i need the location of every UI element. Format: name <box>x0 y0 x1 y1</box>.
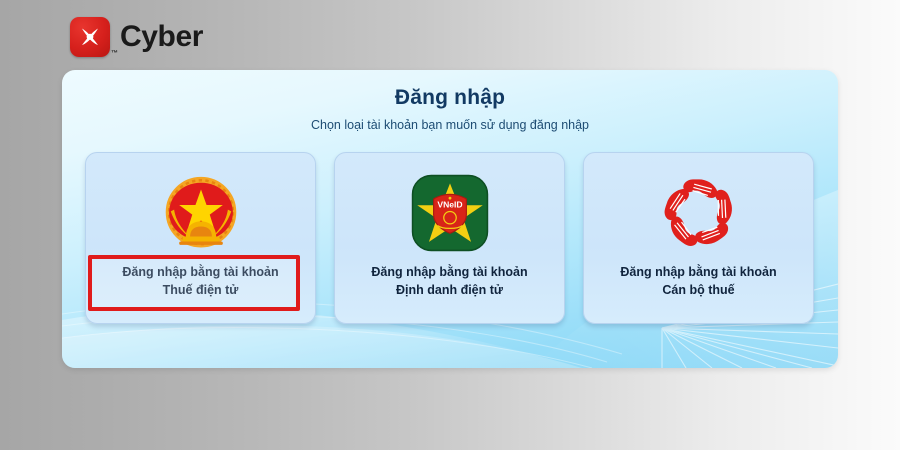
page-subtitle: Chọn loại tài khoản bạn muốn sử dụng đăn… <box>62 118 838 132</box>
cyber-x-logo-icon <box>70 17 110 57</box>
login-option-etax[interactable]: Đăng nhập bằng tài khoản Thuế điện tử <box>85 152 316 324</box>
login-option-label-line2: Định danh điện tử <box>371 281 527 299</box>
login-option-label: Đăng nhập bằng tài khoản Cán bộ thuế <box>620 263 776 299</box>
page-title: Đăng nhập <box>62 86 838 110</box>
login-option-label-line1: Đăng nhập bằng tài khoản <box>620 265 776 279</box>
brand-name-text: Cyber <box>120 20 203 53</box>
login-option-label: Đăng nhập bằng tài khoản Định danh điện … <box>371 263 527 299</box>
brand-logo: Cyber ™ <box>70 14 203 60</box>
login-option-label-line1: Đăng nhập bằng tài khoản <box>371 265 527 279</box>
highlight-annotation-box <box>88 255 300 311</box>
login-option-vneid[interactable]: VNeID Đăng nhập bằng tài khoản Định danh… <box>334 152 565 324</box>
login-option-tax-officer[interactable]: Đăng nhập bằng tài khoản Cán bộ thuế <box>583 152 814 324</box>
svg-text:VNeID: VNeID <box>437 200 462 210</box>
tax-department-hands-star-icon <box>655 167 743 259</box>
login-panel: Đăng nhập Chọn loại tài khoản bạn muốn s… <box>62 70 838 368</box>
login-options-list: Đăng nhập bằng tài khoản Thuế điện tử VN… <box>85 152 815 324</box>
trademark-symbol: ™ <box>111 50 118 57</box>
brand-name: Cyber ™ <box>120 22 203 52</box>
login-option-label-line2: Cán bộ thuế <box>620 281 776 299</box>
vneid-app-icon: VNeID <box>411 167 489 259</box>
vietnam-national-emblem-icon <box>159 167 243 259</box>
